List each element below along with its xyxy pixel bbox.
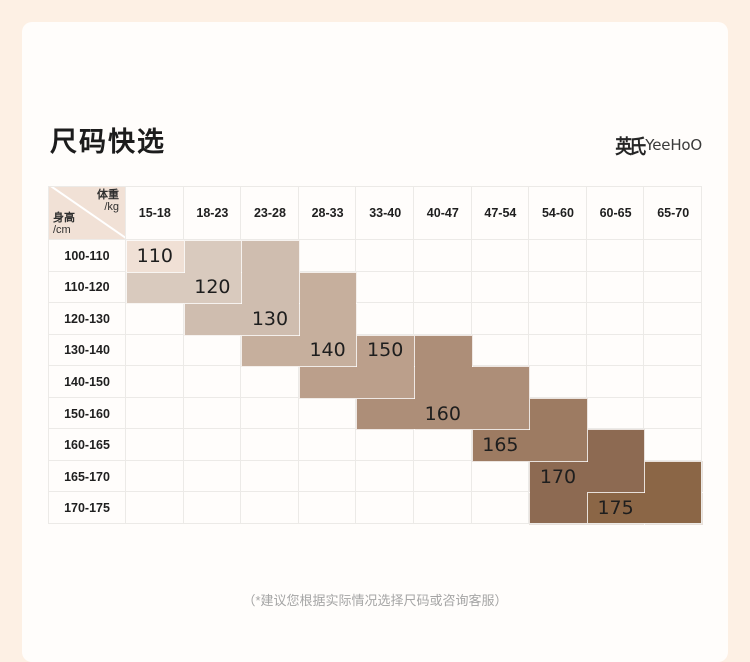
brand-logo-en: YeeHoO <box>645 136 702 154</box>
size-block-130-outline <box>241 240 300 273</box>
grid-cell[interactable] <box>644 366 702 398</box>
column-header-23-28[interactable]: 23-28 <box>241 186 299 240</box>
size-block-120-outline <box>126 272 185 305</box>
size-label-120: 120 <box>184 272 242 304</box>
size-block-170-outline <box>587 429 646 462</box>
size-block-160-outline <box>414 335 473 368</box>
size-label-140: 140 <box>299 335 357 367</box>
grid-cell[interactable] <box>644 429 702 461</box>
row-header-150-160[interactable]: 150-160 <box>48 398 126 430</box>
grid-cell[interactable] <box>414 429 472 461</box>
size-label-150: 150 <box>356 335 414 367</box>
grid-cell[interactable] <box>587 335 645 367</box>
grid-cell[interactable] <box>529 272 587 304</box>
grid-cell[interactable] <box>472 492 530 524</box>
grid-cell[interactable] <box>587 398 645 430</box>
grid-cell[interactable] <box>529 335 587 367</box>
grid-cell[interactable] <box>644 398 702 430</box>
grid-cell[interactable] <box>184 492 242 524</box>
size-label-175: 175 <box>587 492 645 524</box>
page-title: 尺码快选 <box>50 120 166 159</box>
size-block-165-outline <box>529 398 588 431</box>
grid-cell[interactable] <box>241 366 299 398</box>
size-block-140-outline <box>299 303 358 336</box>
column-header-33-40[interactable]: 33-40 <box>356 186 414 240</box>
grid-cell[interactable] <box>299 429 357 461</box>
grid-cell[interactable] <box>414 272 472 304</box>
weight-axis-label: 体重 /kg <box>97 189 119 213</box>
grid-cell[interactable] <box>126 366 184 398</box>
grid-cell[interactable] <box>184 398 242 430</box>
grid-cell[interactable] <box>472 461 530 493</box>
weight-axis-unit: /kg <box>104 201 119 213</box>
brand-logo-cn: 英氏 <box>615 130 643 159</box>
grid-cell[interactable] <box>299 461 357 493</box>
grid-cell[interactable] <box>299 492 357 524</box>
grid-cell[interactable] <box>299 240 357 272</box>
grid-cell[interactable] <box>644 335 702 367</box>
grid-cell[interactable] <box>529 366 587 398</box>
grid-cell[interactable] <box>414 461 472 493</box>
grid-cell[interactable] <box>587 240 645 272</box>
grid-cell[interactable] <box>644 240 702 272</box>
size-label-160: 160 <box>414 398 472 430</box>
size-label-165: 165 <box>472 429 530 461</box>
axis-corner-header: 体重 /kg 身高 /cm <box>48 186 126 240</box>
size-label-170: 170 <box>529 461 587 493</box>
grid-cell[interactable] <box>472 303 530 335</box>
grid-cell[interactable] <box>472 272 530 304</box>
column-header-65-70[interactable]: 65-70 <box>644 186 702 240</box>
page-card: 尺码快选 英氏 YeeHoO 1101201301401501601651701… <box>22 22 728 662</box>
grid-cell[interactable] <box>126 335 184 367</box>
size-label-110: 110 <box>126 240 184 272</box>
column-header-15-18[interactable]: 15-18 <box>126 186 184 240</box>
size-block-170-outline <box>587 461 646 494</box>
size-block-165-outline <box>529 429 588 462</box>
grid-cell[interactable] <box>529 240 587 272</box>
brand-logo: 英氏 YeeHoO <box>615 132 702 157</box>
grid-cell[interactable] <box>356 429 414 461</box>
size-block-130-outline <box>241 272 300 305</box>
row-header-165-170[interactable]: 165-170 <box>48 461 126 493</box>
grid-cell[interactable] <box>241 429 299 461</box>
size-block-120-outline <box>184 240 243 273</box>
weight-axis-title: 体重 <box>97 189 119 201</box>
grid-cell[interactable] <box>644 272 702 304</box>
size-block-175-outline <box>644 461 703 494</box>
grid-cell[interactable] <box>184 366 242 398</box>
size-block-170-outline <box>529 492 588 525</box>
footnote: （*建议您根据实际情况选择尺码或咨询客服） <box>22 590 728 609</box>
size-chart: 110120130140150160165170175 体重 /kg 身高 /c… <box>48 186 702 524</box>
grid-cell[interactable] <box>587 303 645 335</box>
column-header-28-33[interactable]: 28-33 <box>299 186 357 240</box>
column-header-47-54[interactable]: 47-54 <box>472 186 530 240</box>
column-header-60-65[interactable]: 60-65 <box>587 186 645 240</box>
size-block-175-outline <box>644 492 703 525</box>
grid-cell[interactable] <box>472 240 530 272</box>
grid-cell[interactable] <box>356 461 414 493</box>
grid-cell[interactable] <box>356 272 414 304</box>
grid-cell[interactable] <box>241 461 299 493</box>
height-axis-label: 身高 /cm <box>53 212 75 236</box>
grid-cell[interactable] <box>414 240 472 272</box>
grid-cell[interactable] <box>126 429 184 461</box>
size-block-160-outline <box>472 398 531 431</box>
grid-cell[interactable] <box>356 240 414 272</box>
size-block-160-outline <box>356 398 415 431</box>
row-header-130-140[interactable]: 130-140 <box>48 335 126 367</box>
column-header-54-60[interactable]: 54-60 <box>529 186 587 240</box>
row-header-100-110[interactable]: 100-110 <box>48 240 126 272</box>
size-block-150-outline <box>356 366 415 399</box>
grid-cell[interactable] <box>472 335 530 367</box>
size-label-130: 130 <box>241 303 299 335</box>
size-block-130-outline <box>184 303 243 336</box>
row-header-120-130[interactable]: 120-130 <box>48 303 126 335</box>
row-header-170-175[interactable]: 170-175 <box>48 492 126 524</box>
grid-cell[interactable] <box>644 303 702 335</box>
size-block-140-outline <box>241 335 300 368</box>
size-block-150-outline <box>299 366 358 399</box>
grid-cell[interactable] <box>529 303 587 335</box>
size-block-140-outline <box>299 272 358 305</box>
grid-cell[interactable] <box>126 398 184 430</box>
column-header-40-47[interactable]: 40-47 <box>414 186 472 240</box>
grid-cell[interactable] <box>356 303 414 335</box>
grid-cell[interactable] <box>299 398 357 430</box>
size-block-160-outline <box>472 366 531 399</box>
row-header-110-120[interactable]: 110-120 <box>48 272 126 304</box>
column-header-18-23[interactable]: 18-23 <box>184 186 242 240</box>
grid-cell[interactable] <box>241 492 299 524</box>
grid-cell[interactable] <box>126 303 184 335</box>
grid-cell[interactable] <box>126 461 184 493</box>
grid-cell[interactable] <box>184 429 242 461</box>
grid-cell[interactable] <box>414 492 472 524</box>
height-axis-unit: /cm <box>53 224 71 236</box>
grid-cell[interactable] <box>356 492 414 524</box>
grid-cell[interactable] <box>587 366 645 398</box>
grid-cell[interactable] <box>184 461 242 493</box>
row-header-160-165[interactable]: 160-165 <box>48 429 126 461</box>
size-block-160-outline <box>414 366 473 399</box>
height-axis-title: 身高 <box>53 212 75 224</box>
grid-cell[interactable] <box>184 335 242 367</box>
grid-cell[interactable] <box>241 398 299 430</box>
grid-cell[interactable] <box>587 272 645 304</box>
grid-cell[interactable] <box>414 303 472 335</box>
grid-cell[interactable] <box>126 492 184 524</box>
row-header-140-150[interactable]: 140-150 <box>48 366 126 398</box>
